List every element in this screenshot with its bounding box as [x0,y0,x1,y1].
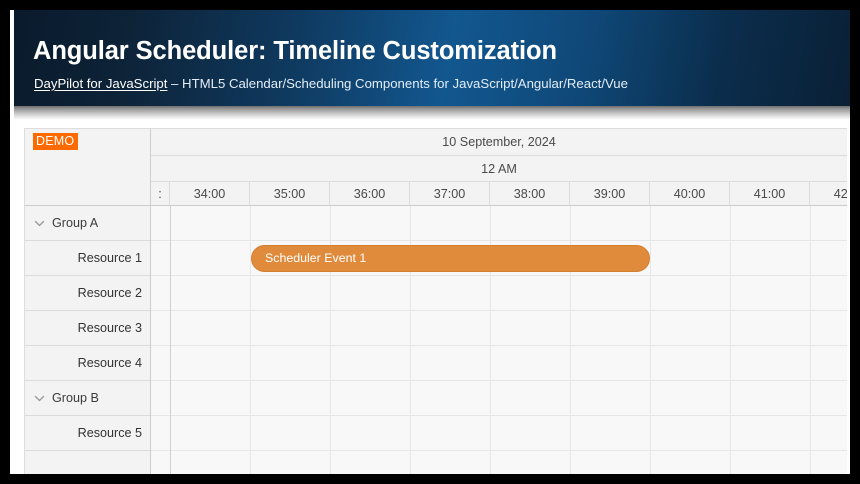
resource-row[interactable]: Resource 5 [25,416,150,451]
resource-label: Resource 5 [78,416,142,451]
timeheader-cell[interactable]: 41:00 [730,182,810,206]
scheduler-grid[interactable]: Scheduler Event 1 [151,206,847,474]
resource-label: Group B [52,381,99,416]
event-label: Scheduler Event 1 [265,246,366,271]
resource-label: Resource 1 [78,241,142,276]
grid-row[interactable] [151,451,847,474]
grid-row[interactable] [151,311,847,346]
grid-column-line [250,206,251,474]
banner-shadow-strip [14,106,850,120]
page-subtitle-text: – HTML5 Calendar/Scheduling Components f… [167,76,628,91]
resource-row[interactable]: Resource 2 [25,276,150,311]
chevron-down-icon[interactable] [34,218,45,229]
resource-label: Resource 3 [78,311,142,346]
resource-label: Group A [52,206,98,241]
grid-column-line [170,206,171,474]
timeheader-cell[interactable]: 40:00 [650,182,730,206]
timeheader-cell[interactable]: 35:00 [250,182,330,206]
page-subtitle: DayPilot for JavaScript – HTML5 Calendar… [34,76,628,91]
resource-column: Group AResource 1Resource 2Resource 3Res… [24,206,151,474]
timeheader-cell[interactable]: 42:00 [810,182,847,206]
timeheader-cell[interactable]: 38:00 [490,182,570,206]
timeheader-date-label[interactable]: 10 September, 2024 [151,129,847,156]
page-frame: Angular Scheduler: Timeline Customizatio… [10,10,850,474]
demo-badge: DEMO [33,133,78,150]
daypilot-link[interactable]: DayPilot for JavaScript [34,76,167,91]
resource-label: Resource 4 [78,346,142,381]
scheduler-corner: DEMO [24,128,151,206]
timeheader-hour-label[interactable]: 12 AM [151,156,847,182]
grid-row[interactable] [151,381,847,416]
grid-row[interactable] [151,346,847,381]
grid-column-line [650,206,651,474]
page-title: Angular Scheduler: Timeline Customizatio… [33,37,557,66]
grid-column-line [730,206,731,474]
timeheader-cell[interactable]: 34:00 [170,182,250,206]
timeheader-cell[interactable]: 39:00 [570,182,650,206]
timeheader-cell[interactable]: 37:00 [410,182,490,206]
resource-row[interactable]: Resource 4 [25,346,150,381]
page-banner: Angular Scheduler: Timeline Customizatio… [14,10,850,106]
grid-column-line [810,206,811,474]
chevron-down-icon[interactable] [34,393,45,404]
scheduler-time-header: 10 September, 2024 12 AM :34:0035:0036:0… [151,128,847,206]
grid-row[interactable] [151,416,847,451]
timeheader-cell[interactable]: : [151,182,170,206]
resource-group-row[interactable]: Group B [25,381,150,416]
resource-row[interactable] [25,451,150,474]
timeheader-cell[interactable]: 36:00 [330,182,410,206]
resource-label: Resource 2 [78,276,142,311]
scheduler-component[interactable]: DEMO 10 September, 2024 12 AM :34:0035:0… [24,128,847,474]
resource-row[interactable]: Resource 3 [25,311,150,346]
resource-group-row[interactable]: Group A [25,206,150,241]
grid-row[interactable] [151,276,847,311]
grid-row[interactable] [151,206,847,241]
resource-row[interactable]: Resource 1 [25,241,150,276]
scheduler-event[interactable]: Scheduler Event 1 [251,245,650,272]
timeheader-cell-row: :34:0035:0036:0037:0038:0039:0040:0041:0… [151,182,847,206]
